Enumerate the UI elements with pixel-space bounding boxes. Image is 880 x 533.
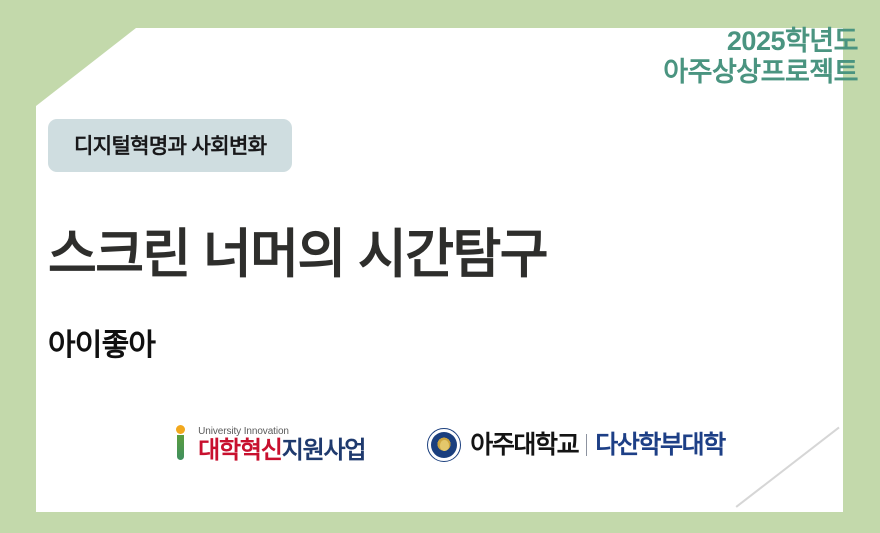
university-innovation-korean-text: 대학혁신지원사업 — [198, 439, 365, 463]
ajou-university-seal-icon — [427, 428, 461, 462]
team-name: 아이좋아 — [48, 320, 155, 364]
dasan-college-name: 다산학부대학 — [595, 433, 725, 458]
ajou-university-logo: 아주대학교 다산학부대학 — [427, 428, 725, 462]
university-innovation-logo: University Innovation 대학혁신지원사업 — [155, 425, 365, 465]
ajou-university-name: 아주대학교 — [470, 433, 578, 458]
program-name-line: 아주상상프로젝트 — [663, 57, 858, 88]
university-innovation-korean-blue: 지원사업 — [282, 437, 366, 464]
page-title: 스크린 너머의 시간탐구 — [48, 212, 547, 288]
footer-logos: University Innovation 대학혁신지원사업 아주대학교 다산학… — [0, 410, 880, 480]
university-innovation-mark-icon — [155, 425, 189, 465]
program-year-line: 2025학년도 — [727, 26, 858, 56]
logo-divider — [586, 434, 587, 456]
program-heading: 2025학년도 아주상상프로젝트 — [663, 26, 858, 89]
university-innovation-english-text: University Innovation — [198, 427, 365, 437]
ajou-university-wordmark: 아주대학교 다산학부대학 — [470, 433, 725, 458]
category-badge: 디지털혁명과 사회변화 — [48, 119, 292, 172]
presentation-slide: 2025학년도 아주상상프로젝트 디지털혁명과 사회변화 스크린 너머의 시간탐… — [0, 0, 880, 533]
university-innovation-korean-red: 대학혁신 — [198, 437, 282, 464]
university-innovation-wordmark: University Innovation 대학혁신지원사업 — [198, 427, 365, 463]
